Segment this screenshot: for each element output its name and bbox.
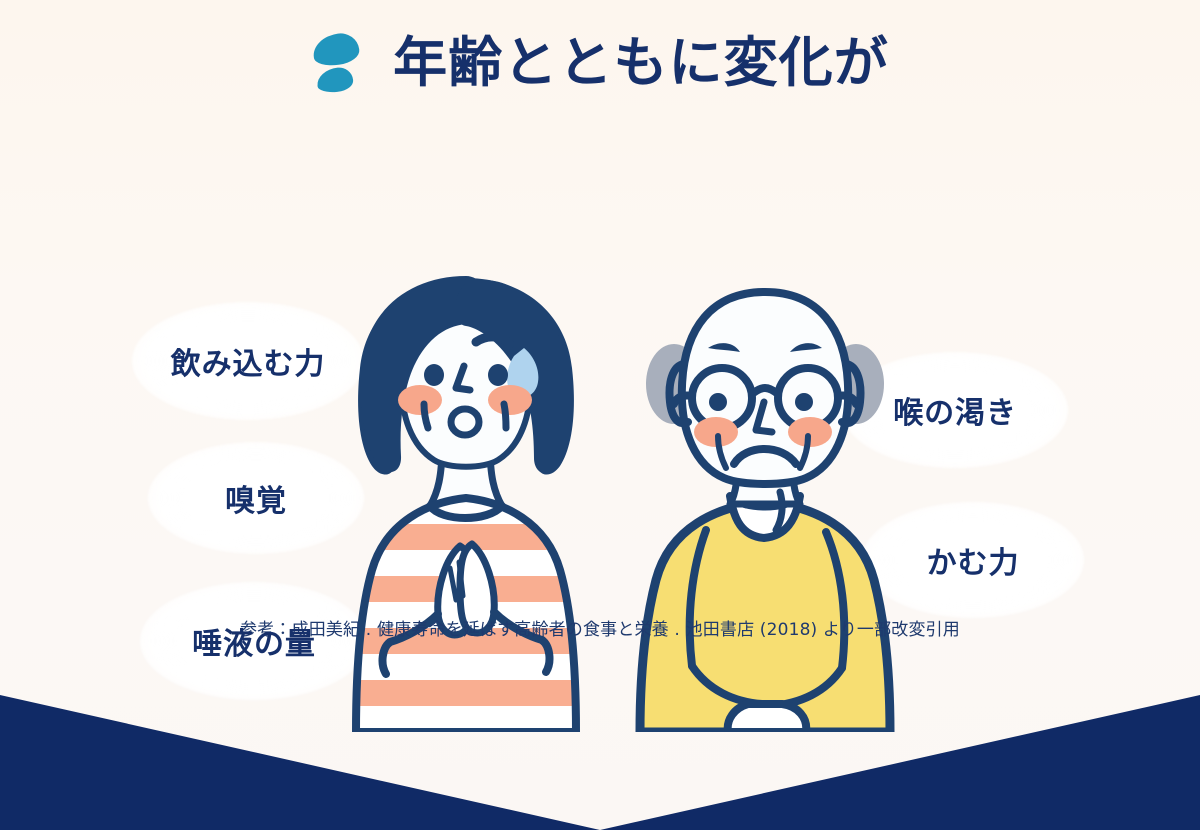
- label-text: 喉の渇き: [893, 388, 1017, 432]
- woman-blush-right: [488, 385, 532, 415]
- droplet-large-icon: [311, 31, 361, 68]
- woman-eye-right: [488, 364, 508, 386]
- label-blob-saliva-amount: 唾液の量: [140, 582, 368, 700]
- illustration-area: 飲み込む力 嗅覚 唾液の量 喉の渇き かむ力: [0, 130, 1200, 600]
- slide-canvas: 年齢とともに変化が 飲み込む力 嗅覚 唾液の量 喉の渇き かむ力: [0, 0, 1200, 830]
- label-text: 唾液の量: [192, 619, 316, 663]
- man-eye-left: [709, 393, 727, 411]
- woman-eye-left: [424, 364, 444, 386]
- woman-cheek-line-right: [504, 404, 506, 428]
- man-hands: [728, 704, 807, 732]
- label-blob-sense-of-smell: 嗅覚: [148, 442, 364, 554]
- man-eye-right: [795, 393, 813, 411]
- woman-blush-left: [398, 385, 442, 415]
- label-text: 嗅覚: [225, 476, 287, 520]
- illustration-elderly-man: [630, 280, 900, 732]
- label-text: 飲み込む力: [171, 339, 326, 383]
- woman-cheek-line-left: [424, 404, 428, 428]
- slide-header: 年齢とともに変化が: [0, 18, 1200, 108]
- bottom-navy-chevron-band: [0, 695, 1200, 830]
- source-caption: 参考：成田美紀 . 健康寿命を延ばす高齢者の食事と栄養 . 池田書店 (2018…: [0, 615, 1200, 640]
- page-title: 年齢とともに変化が: [393, 36, 889, 90]
- label-text: かむ力: [927, 538, 1020, 582]
- illustration-woman: [338, 270, 594, 732]
- two-droplets-icon: [311, 30, 367, 96]
- droplet-small-icon: [316, 66, 354, 94]
- label-blob-swallowing-power: 飲み込む力: [132, 302, 364, 420]
